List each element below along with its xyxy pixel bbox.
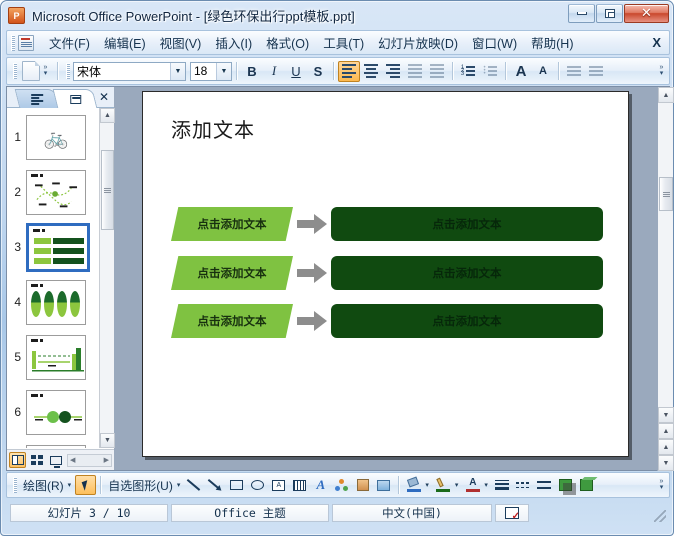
thumbnail-row-3[interactable]: 3 xyxy=(7,221,99,273)
document-icon xyxy=(18,35,34,51)
slide-sorter-icon xyxy=(31,455,43,465)
canvas-scroll-up-button[interactable]: ▲ xyxy=(658,87,674,103)
menu-edit[interactable]: 编辑(E) xyxy=(97,30,153,55)
text-shadow-icon: S xyxy=(314,64,323,79)
font-name-dropdown-icon[interactable]: ▼ xyxy=(170,63,185,80)
increase-indent-button[interactable] xyxy=(585,61,607,82)
picture-tool-button[interactable] xyxy=(373,475,394,495)
powerpoint-icon: P xyxy=(8,7,25,24)
line-color-dropdown-icon[interactable]: ▾ xyxy=(455,481,459,489)
normal-view-button[interactable] xyxy=(9,452,26,468)
arrow-style-icon xyxy=(537,479,551,491)
decrease-font-size-icon: A xyxy=(539,65,547,77)
drawing-toolbar: 绘图(R) ▾ 自选图形(U) ▾ A A ▾ xyxy=(6,472,670,498)
align-center-button[interactable] xyxy=(360,61,382,82)
3d-style-icon xyxy=(580,479,593,491)
thumbnail-number: 1 xyxy=(7,130,26,144)
slide-row-3[interactable]: 点击添加文本 点击添加文本 xyxy=(171,304,603,338)
select-arrow-button[interactable] xyxy=(75,475,96,495)
thumbnail-slide-5[interactable] xyxy=(26,335,86,380)
thumbnail-slide-4[interactable] xyxy=(26,280,86,325)
menu-file[interactable]: 文件(F) xyxy=(42,30,97,55)
slide-row-2[interactable]: 点击添加文本 点击添加文本 xyxy=(171,256,603,290)
menu-window[interactable]: 窗口(W) xyxy=(465,30,524,55)
wordart-tool-button[interactable]: A xyxy=(310,475,331,495)
slide-title-placeholder[interactable]: 添加文本 xyxy=(171,114,255,143)
text-shadow-button[interactable]: S xyxy=(307,61,329,82)
pane-tabs: ✕ xyxy=(7,87,114,108)
tab-slides[interactable] xyxy=(53,89,98,108)
thumbnail-slide-1[interactable]: 🚲 xyxy=(26,115,86,160)
previous-slide-button[interactable]: ▲ xyxy=(658,423,674,439)
previous-slide-double-icon[interactable]: ▲ xyxy=(658,439,674,455)
diagram-icon xyxy=(335,479,348,491)
arrow-icon-3 xyxy=(295,304,329,338)
menu-bar: 文件(F) 编辑(E) 视图(V) 插入(I) 格式(O) 工具(T) 幻灯片放… xyxy=(6,30,670,55)
shadow-style-button[interactable] xyxy=(555,475,576,495)
font-group-grip[interactable] xyxy=(66,63,70,79)
arrow-icon-2 xyxy=(295,256,329,290)
thumbnail-list[interactable]: 1 🚲 2 xyxy=(7,108,99,448)
slide-editing-area[interactable]: 添加文本 点击添加文本 点击添加文本 点击添加文本 点击添加文本 点击添加文本 … xyxy=(119,91,646,466)
slide-show-icon xyxy=(50,456,62,465)
align-right-icon xyxy=(386,64,400,78)
scroll-left-icon[interactable]: ◀ xyxy=(70,456,75,464)
decrease-font-size-button[interactable]: A xyxy=(532,61,554,82)
bulleted-list-icon: ••• xyxy=(483,66,496,76)
align-left-icon xyxy=(342,64,356,78)
toolbar-overflow-right-icon[interactable]: »▾ xyxy=(656,60,667,82)
justify-button[interactable] xyxy=(404,61,426,82)
close-button[interactable]: ✕ xyxy=(624,4,669,23)
dash-style-button[interactable] xyxy=(513,475,534,495)
next-slide-button[interactable]: ▼ xyxy=(658,455,674,471)
font-color-dropdown-icon[interactable]: ▾ xyxy=(484,481,488,489)
numbered-list-button[interactable]: 123 xyxy=(457,61,479,82)
line-style-icon xyxy=(495,480,509,490)
3d-style-button[interactable] xyxy=(576,475,597,495)
normal-view-icon xyxy=(12,455,24,465)
pane-horizontal-scrollbar[interactable]: ◀ ▶ xyxy=(67,454,112,467)
diagram-tool-button[interactable] xyxy=(331,475,352,495)
font-size-dropdown-icon[interactable]: ▼ xyxy=(216,63,231,80)
thumbnail-row-7[interactable]: 7 xyxy=(7,441,99,448)
italic-button[interactable]: I xyxy=(263,61,285,82)
drawing-toolbar-overflow-icon[interactable]: »▾ xyxy=(656,474,667,496)
menu-help[interactable]: 帮助(H) xyxy=(524,30,580,55)
close-icon: ✕ xyxy=(641,7,652,20)
decrease-indent-icon xyxy=(567,66,581,76)
fill-color-icon xyxy=(407,478,421,492)
powerpoint-window: P Microsoft Office PowerPoint - [绿色环保出行p… xyxy=(0,0,674,536)
window-controls: ✕ xyxy=(568,4,669,23)
canvas-scrollbar[interactable]: ▲ ▼ ▲ ▲ ▼ xyxy=(657,87,673,471)
numbered-list-icon: 123 xyxy=(461,66,475,76)
spellcheck-icon xyxy=(505,507,519,519)
line-style-button[interactable] xyxy=(492,475,513,495)
align-right-button[interactable] xyxy=(382,61,404,82)
arrow-tool-button[interactable] xyxy=(205,475,226,495)
thumbnail-slide-2[interactable] xyxy=(26,170,86,215)
oval-icon xyxy=(251,480,264,490)
font-size-value: 18 xyxy=(194,64,207,78)
select-arrow-icon xyxy=(81,480,90,491)
decrease-indent-button[interactable] xyxy=(563,61,585,82)
language-indicator: 中文(中国) xyxy=(332,504,492,522)
resize-grip[interactable] xyxy=(654,510,666,522)
line-spacing-button[interactable] xyxy=(426,61,448,82)
increase-indent-icon xyxy=(589,66,603,76)
menu-tools[interactable]: 工具(T) xyxy=(316,30,371,55)
font-size-input[interactable]: 18 ▼ xyxy=(190,62,232,81)
bold-icon: B xyxy=(247,64,256,79)
draw-menu-button[interactable]: 绘图(R) xyxy=(20,477,67,494)
bold-button[interactable]: B xyxy=(241,61,263,82)
slide-canvas[interactable]: 添加文本 点击添加文本 点击添加文本 点击添加文本 点击添加文本 点击添加文本 … xyxy=(142,91,629,457)
dash-style-icon xyxy=(516,482,530,488)
thumbnail-slide-6[interactable] xyxy=(26,390,86,435)
thumbnail-number: 5 xyxy=(7,350,26,364)
chart-diagram-icon xyxy=(32,348,84,376)
autoshapes-dropdown-icon[interactable]: ▾ xyxy=(177,481,181,489)
view-buttons-bar: ◀ ▶ xyxy=(7,449,114,470)
pane-close-button[interactable]: ✕ xyxy=(99,90,109,104)
drawing-toolbar-grip[interactable] xyxy=(13,477,17,493)
arrow-icon xyxy=(209,479,222,492)
toolbar-grip[interactable] xyxy=(13,63,17,79)
slide-sorter-view-button[interactable] xyxy=(28,452,45,468)
thumbnail-number: 4 xyxy=(7,295,26,309)
thumbnail-scroll-up-button[interactable]: ▲ xyxy=(100,108,115,123)
menu-format[interactable]: 格式(O) xyxy=(259,30,316,55)
canvas-scroll-down-button[interactable]: ▼ xyxy=(658,407,674,423)
left-shape-1[interactable]: 点击添加文本 xyxy=(171,207,293,241)
left-shape-3[interactable]: 点击添加文本 xyxy=(171,304,293,338)
menu-view[interactable]: 视图(V) xyxy=(153,30,209,55)
outline-icon xyxy=(31,94,43,105)
bicycle-icon: 🚲 xyxy=(44,125,69,150)
slides-icon xyxy=(70,95,81,104)
underline-button[interactable]: U xyxy=(285,61,307,82)
canvas-scroll-thumb[interactable] xyxy=(659,177,673,211)
thumbnail-number: 2 xyxy=(7,185,26,199)
font-name-value: 宋体 xyxy=(77,63,101,80)
menu-grip[interactable] xyxy=(11,35,15,51)
bulleted-list-button[interactable]: ••• xyxy=(479,61,501,82)
status-bar: 幻灯片 3 / 10 Office 主题 中文(中国) xyxy=(6,501,670,525)
fill-color-dropdown-icon[interactable]: ▾ xyxy=(425,481,429,489)
title-bar: P Microsoft Office PowerPoint - [绿色环保出行p… xyxy=(1,1,674,29)
line-spacing-icon xyxy=(430,64,444,78)
align-left-button[interactable] xyxy=(338,61,360,82)
slide-show-view-button[interactable] xyxy=(47,452,64,468)
line-color-button[interactable] xyxy=(433,475,454,495)
text-box-tool-button[interactable]: A xyxy=(268,475,289,495)
toolbar-overflow-left-icon[interactable]: »▾ xyxy=(40,60,51,82)
thumbnail-slide-3[interactable] xyxy=(26,223,90,272)
thumbnail-scroll-down-button[interactable]: ▼ xyxy=(100,433,115,448)
restore-button[interactable] xyxy=(596,4,623,23)
align-center-icon xyxy=(364,64,378,78)
line-icon xyxy=(188,479,201,492)
wordart-icon: A xyxy=(317,477,326,493)
thumbnail-number: 6 xyxy=(7,405,26,419)
new-document-icon[interactable] xyxy=(22,61,40,81)
thumbnail-row-1[interactable]: 1 🚲 xyxy=(7,111,99,163)
vertical-text-box-tool-button[interactable] xyxy=(289,475,310,495)
rectangle-tool-button[interactable] xyxy=(226,475,247,495)
fill-color-button[interactable] xyxy=(403,475,424,495)
increase-font-size-button[interactable]: A xyxy=(510,61,532,82)
arrow-style-button[interactable] xyxy=(534,475,555,495)
clip-art-tool-button[interactable] xyxy=(352,475,373,495)
font-color-icon: A xyxy=(466,478,480,492)
slide-thumbnail-pane: ✕ 1 🚲 2 xyxy=(7,87,114,470)
thumbnail-row-6[interactable]: 6 xyxy=(7,386,99,438)
window-title: Microsoft Office PowerPoint - [绿色环保出行ppt… xyxy=(32,6,355,25)
scroll-right-icon[interactable]: ▶ xyxy=(104,456,109,464)
close-document-button[interactable]: X xyxy=(652,35,661,50)
right-shape-3[interactable]: 点击添加文本 xyxy=(331,304,603,338)
draw-menu-dropdown-icon[interactable]: ▾ xyxy=(68,481,72,489)
clip-art-icon xyxy=(357,479,369,491)
formatting-toolbar: »▾ 宋体 ▼ 18 ▼ B I U S xyxy=(6,57,670,85)
arrow-icon-1 xyxy=(295,207,329,241)
left-shape-2[interactable]: 点击添加文本 xyxy=(171,256,293,290)
autoshapes-menu-button[interactable]: 自选图形(U) xyxy=(105,477,176,494)
circles-diagram-icon xyxy=(32,403,84,431)
thumbnail-row-4[interactable]: 4 xyxy=(7,276,99,328)
network-diagram-icon xyxy=(27,171,85,214)
menu-slideshow[interactable]: 幻灯片放映(D) xyxy=(371,30,465,55)
leaves-diagram-icon xyxy=(31,291,80,317)
font-name-input[interactable]: 宋体 ▼ xyxy=(73,62,186,81)
slide-row-1[interactable]: 点击添加文本 点击添加文本 xyxy=(171,207,603,241)
italic-icon: I xyxy=(272,63,276,79)
right-shape-1[interactable]: 点击添加文本 xyxy=(331,207,603,241)
vertical-text-box-icon xyxy=(293,480,306,491)
thumbnail-scroll-thumb[interactable] xyxy=(101,150,114,230)
bars-diagram-icon xyxy=(34,238,84,264)
oval-tool-button[interactable] xyxy=(247,475,268,495)
increase-font-size-icon: A xyxy=(516,63,527,80)
justify-icon xyxy=(408,64,422,78)
font-color-button[interactable]: A xyxy=(462,475,483,495)
theme-indicator: Office 主题 xyxy=(171,504,329,522)
line-tool-button[interactable] xyxy=(184,475,205,495)
thumbnail-number: 3 xyxy=(7,240,26,254)
thumbnail-slide-7[interactable] xyxy=(26,445,86,449)
line-color-icon xyxy=(436,478,450,492)
picture-icon xyxy=(377,480,390,491)
menu-insert[interactable]: 插入(I) xyxy=(208,30,259,55)
shadow-style-icon xyxy=(559,479,572,491)
rectangle-icon xyxy=(230,480,243,490)
thumbnail-row-5[interactable]: 5 xyxy=(7,331,99,383)
thumbnail-row-2[interactable]: 2 xyxy=(7,166,99,218)
right-shape-2[interactable]: 点击添加文本 xyxy=(331,256,603,290)
underline-icon: U xyxy=(291,64,300,79)
spellcheck-status[interactable] xyxy=(495,504,529,522)
text-box-icon: A xyxy=(272,480,285,491)
minimize-button[interactable] xyxy=(568,4,595,23)
thumbnail-scrollbar[interactable]: ▲ ▼ xyxy=(99,108,114,448)
slide-indicator: 幻灯片 3 / 10 xyxy=(10,504,168,522)
